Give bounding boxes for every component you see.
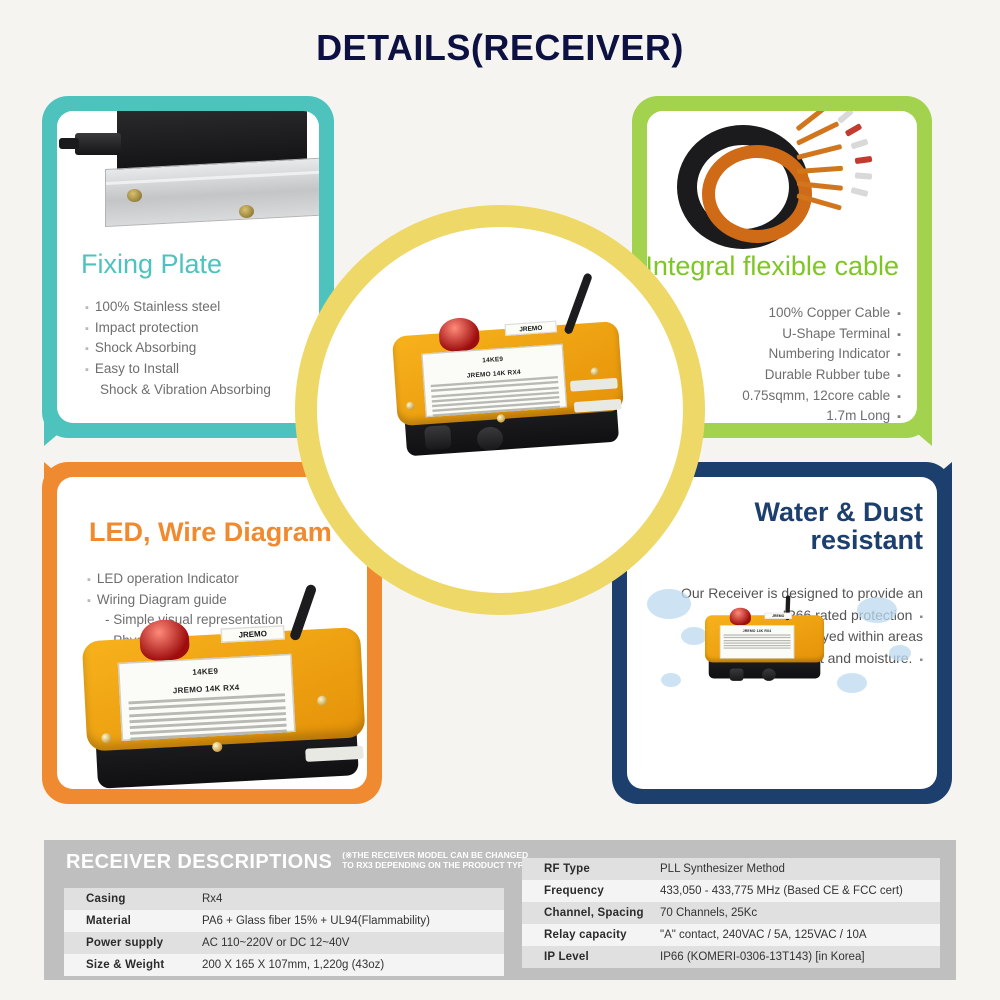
panel-heading-fixing-plate: Fixing Plate xyxy=(81,249,222,280)
red-led-indicator xyxy=(730,608,751,625)
infographic-page: DETAILS(RECEIVER) Fixing Plate 100% Stai… xyxy=(0,0,1000,1000)
list-item: Impact protection xyxy=(85,318,271,339)
bullet-list-cable: 100% Copper Cable U-Shape Terminal Numbe… xyxy=(742,303,901,423)
page-title: DETAILS(RECEIVER) xyxy=(0,27,1000,69)
red-led-indicator xyxy=(438,317,480,353)
list-item: 1.7m Long xyxy=(742,406,901,423)
table-row: Material PA6 + Glass fiber 15% + UL94(Fl… xyxy=(64,910,504,932)
spec-header-note: (※THE RECEIVER MODEL CAN BE CHANGED TO R… xyxy=(342,850,534,874)
table-row: Power supply AC 110~220V or DC 12~40V xyxy=(64,932,504,954)
cable-photo xyxy=(647,111,917,251)
red-led-indicator xyxy=(139,618,190,661)
center-product-ring: JREMO 14KE9 JREMO 14K RX4 xyxy=(295,205,705,615)
spec-table-left: Casing Rx4 Material PA6 + Glass fiber 15… xyxy=(64,888,504,976)
receiver-descriptions-table: RECEIVER DESCRIPTIONS (※THE RECEIVER MOD… xyxy=(44,840,956,980)
list-item: Easy to Install xyxy=(85,359,271,380)
brand-plate: JREMO xyxy=(765,613,792,619)
panel-heading-water-dust: Water & Dust resistant xyxy=(754,499,923,554)
table-row: RF Type PLL Synthesizer Method xyxy=(522,858,940,880)
list-item: 100% Stainless steel xyxy=(85,297,271,318)
list-item: 100% Copper Cable xyxy=(742,303,901,324)
panel-fixing-plate: Fixing Plate 100% Stainless steel Impact… xyxy=(42,96,334,438)
table-row: Size & Weight 200 X 165 X 107mm, 1,220g … xyxy=(64,954,504,976)
list-item: 0.75sqmm, 12core cable xyxy=(742,386,901,407)
wiring-diagram-label: 14KE9 JREMO 14K RX4 xyxy=(421,344,567,417)
list-item: U-Shape Terminal xyxy=(742,324,901,345)
wiring-diagram-label: 14KE9 JREMO 14K RX4 xyxy=(118,654,296,741)
table-row: Relay capacity "A" contact, 240VAC / 5A,… xyxy=(522,924,940,946)
fixing-plate-photo xyxy=(57,111,319,261)
table-row: Frequency 433,050 - 433,775 MHz (Based C… xyxy=(522,880,940,902)
list-item: Shock & Vibration Absorbing xyxy=(85,380,271,401)
list-item: Shock Absorbing xyxy=(85,338,271,359)
table-row: IP Level IP66 (KOMERI-0306-13T143) [in K… xyxy=(522,946,940,968)
panel-heading-integral-cable: Integral flexible cable xyxy=(647,251,899,282)
list-item: Numbering Indicator xyxy=(742,344,901,365)
spec-table-right: RF Type PLL Synthesizer Method Frequency… xyxy=(522,858,940,968)
spec-header: RECEIVER DESCRIPTIONS (※THE RECEIVER MOD… xyxy=(66,850,534,874)
list-item: Durable Rubber tube xyxy=(742,365,901,386)
bullet-list-fixing-plate: 100% Stainless steel Impact protection S… xyxy=(85,297,271,400)
wiring-diagram-label: JREMO 14K RX4 xyxy=(720,625,794,658)
panel-heading-led-wire: LED, Wire Diagram xyxy=(89,517,332,548)
wire-terminal-fan xyxy=(797,115,917,225)
spec-header-title: RECEIVER DESCRIPTIONS xyxy=(66,851,332,874)
table-row: Channel, Spacing 70 Channels, 25Kc xyxy=(522,902,940,924)
table-row: Casing Rx4 xyxy=(64,888,504,910)
list-item: LED operation Indicator xyxy=(87,569,341,590)
